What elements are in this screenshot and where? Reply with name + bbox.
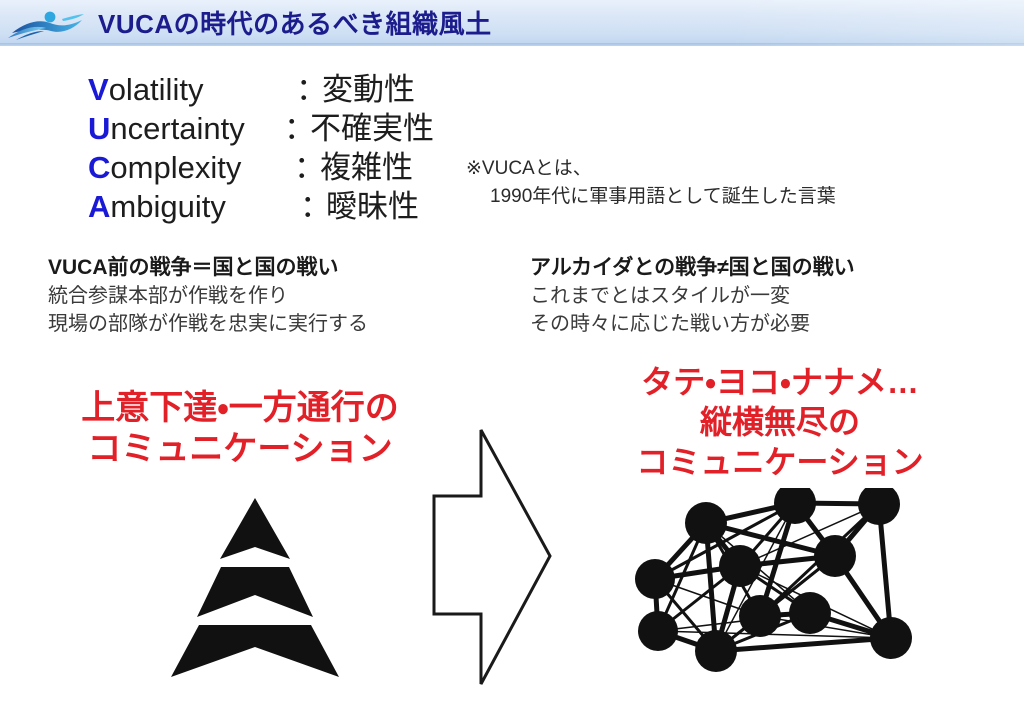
vuca-colon: ： bbox=[296, 70, 322, 109]
header-gradient-overlay bbox=[724, 0, 1024, 46]
vuca-row-complexity: Complexity ： 複雑性 bbox=[88, 148, 468, 187]
vuca-translation: 変動性 bbox=[322, 70, 415, 109]
vuca-term-rest: ncertainty bbox=[110, 111, 244, 146]
left-red-line-2: コミュニケーション bbox=[40, 429, 440, 470]
vuca-translation: 曖昧性 bbox=[326, 187, 419, 226]
mesh-network-icon bbox=[620, 488, 920, 678]
left-red-line-1: 上意下達・一方通行の bbox=[40, 388, 440, 429]
vuca-row-ambiguity: Ambiguity ： 曖昧性 bbox=[88, 187, 468, 226]
vuca-term: Complexity bbox=[88, 148, 284, 187]
vuca-translation: 不確実性 bbox=[310, 109, 434, 148]
vuca-colon: ： bbox=[300, 187, 326, 226]
swimmer-wave-logo-icon bbox=[6, 9, 92, 41]
vuca-acronym-list: Volatility ： 変動性 Uncertainty ： 不確実性 Comp… bbox=[88, 70, 468, 226]
right-subline-2: その時々に応じた戦い方が必要 bbox=[530, 310, 855, 338]
left-subline-1: 統合参謀本部が作戦を作り bbox=[48, 282, 368, 310]
vuca-initial-letter: C bbox=[88, 150, 110, 185]
right-block-arrow-icon bbox=[432, 424, 554, 695]
right-red-line-3: コミュニケーション bbox=[600, 442, 960, 482]
left-heading: VUCA前の戦争＝国と国の戦い bbox=[48, 253, 368, 282]
right-red-line-2: 縦横無尽の bbox=[600, 402, 960, 442]
slide-canvas: VUCAの時代のあるべき組織風土 Volatility ： 変動性 Uncert… bbox=[0, 0, 1024, 709]
vuca-colon: ： bbox=[284, 109, 310, 148]
vuca-term-rest: mbiguity bbox=[110, 189, 225, 224]
vuca-row-volatility: Volatility ： 変動性 bbox=[88, 70, 468, 109]
right-description-block: アルカイダとの戦争≠国と国の戦い これまでとはスタイルが一変 その時々に応じた戦… bbox=[530, 253, 855, 338]
vuca-initial-letter: U bbox=[88, 111, 110, 146]
right-red-heading: タテ・ヨコ・ナナメ… 縦横無尽の コミュニケーション bbox=[600, 362, 960, 482]
vuca-colon: ： bbox=[294, 148, 320, 187]
vuca-translation: 複雑性 bbox=[320, 148, 413, 187]
vuca-term-rest: omplexity bbox=[110, 150, 241, 185]
pyramid-hierarchy-icon bbox=[150, 495, 360, 690]
vuca-term: Uncertainty bbox=[88, 109, 284, 148]
right-red-line-1: タテ・ヨコ・ナナメ… bbox=[600, 362, 960, 402]
vuca-initial-letter: V bbox=[88, 72, 109, 107]
vuca-footnote: ※VUCAとは、 1990年代に軍事用語として誕生した言葉 bbox=[466, 155, 836, 211]
left-red-heading: 上意下達・一方通行の コミュニケーション bbox=[40, 388, 440, 470]
vuca-term-rest: olatility bbox=[109, 72, 204, 107]
right-heading: アルカイダとの戦争≠国と国の戦い bbox=[530, 253, 855, 282]
right-subline-1: これまでとはスタイルが一変 bbox=[530, 282, 855, 310]
vuca-term: Ambiguity bbox=[88, 187, 284, 226]
left-description-block: VUCA前の戦争＝国と国の戦い 統合参謀本部が作戦を作り 現場の部隊が作戦を忠実… bbox=[48, 253, 368, 338]
vuca-initial-letter: A bbox=[88, 189, 110, 224]
left-subline-2: 現場の部隊が作戦を忠実に実行する bbox=[48, 310, 368, 338]
page-title: VUCAの時代のあるべき組織風土 bbox=[98, 8, 492, 40]
vuca-term: Volatility bbox=[88, 70, 284, 109]
footnote-line-1: ※VUCAとは、 bbox=[466, 158, 592, 179]
footnote-line-2: 1990年代に軍事用語として誕生した言葉 bbox=[466, 183, 836, 211]
vuca-row-uncertainty: Uncertainty ： 不確実性 bbox=[88, 109, 468, 148]
